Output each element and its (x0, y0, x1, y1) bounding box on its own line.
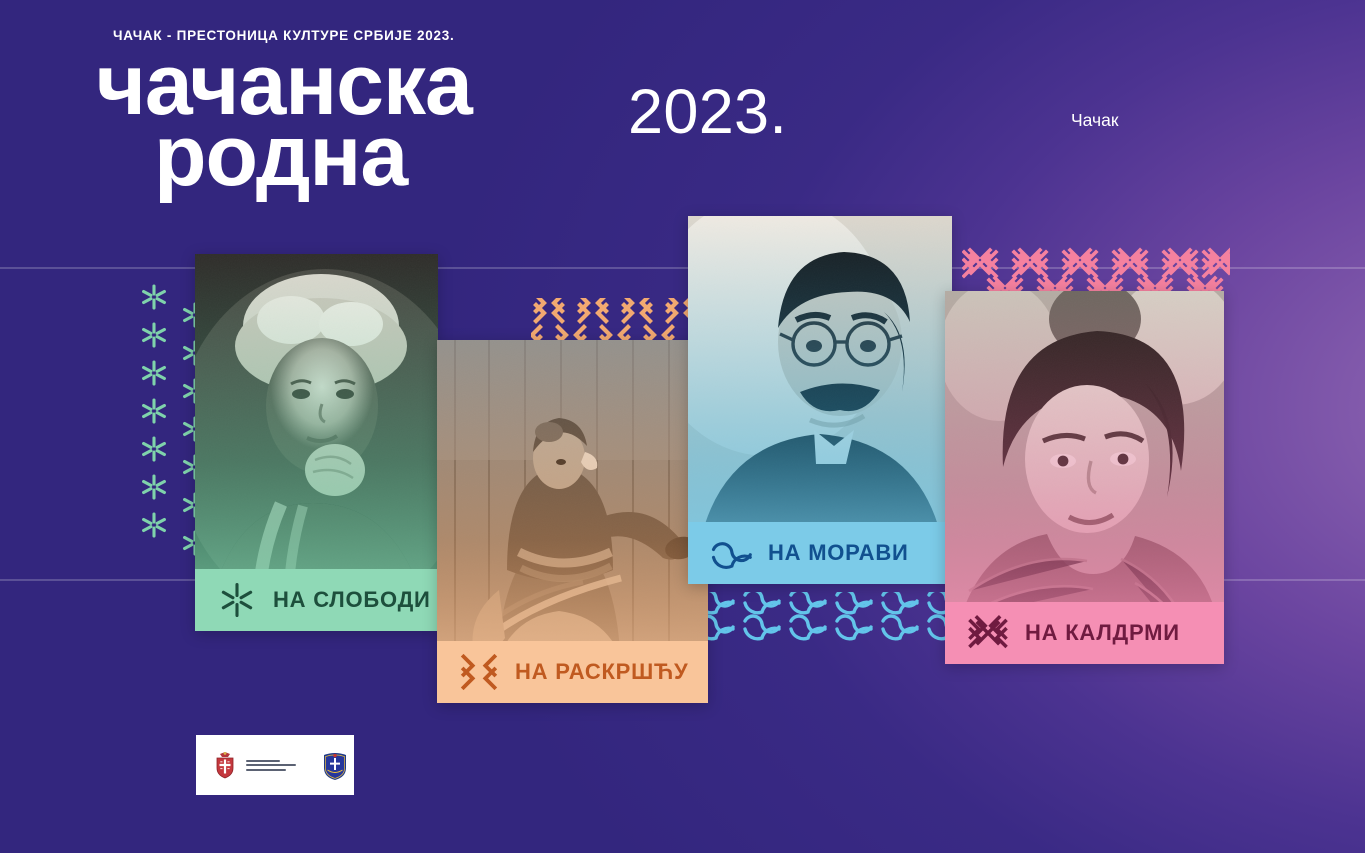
diamond-cross-icon (967, 612, 1009, 654)
card-label-text: НА КАЛДРМИ (1025, 620, 1180, 646)
poster-canvas: ЧАЧАК - ПРЕСТОНИЦА КУЛТУРЕ СРБИЈЕ 2023. … (0, 0, 1365, 853)
year-label: 2023. (628, 76, 787, 148)
sponsor-badge (196, 735, 354, 795)
card-label-na-raskrscu: НА РАСКРШЋУ (437, 641, 708, 703)
wordmark: чачанска родна (96, 50, 472, 191)
cacak-city-crest-icon (322, 750, 348, 780)
ornament-blue-waves (694, 592, 948, 642)
asterisk-star-icon (217, 580, 257, 620)
city-label: Чачак (1071, 110, 1119, 131)
crossroads-x-icon (459, 652, 499, 692)
ministry-text-lines (246, 760, 296, 771)
card-na-moravi[interactable]: НА МОРАВИ (688, 216, 952, 584)
card-na-kaldrmi[interactable]: НА КАЛДРМИ (945, 291, 1224, 664)
ministry-line-3 (246, 769, 286, 771)
card-label-na-slobodi: НА СЛОБОДИ (195, 569, 438, 631)
card-na-raskrscu[interactable]: НА РАСКРШЋУ (437, 340, 708, 703)
ministry-line-2 (246, 764, 296, 766)
wave-icon (710, 534, 752, 572)
ministry-line-1 (246, 760, 280, 762)
card-label-text: НА МОРАВИ (768, 540, 909, 566)
card-label-na-kaldrmi: НА КАЛДРМИ (945, 602, 1224, 664)
card-na-slobodi[interactable]: НА СЛОБОДИ (195, 254, 438, 631)
serbia-coat-of-arms-icon (214, 751, 236, 779)
card-label-text: НА РАСКРШЋУ (515, 659, 688, 685)
card-label-text: НА СЛОБОДИ (273, 587, 431, 613)
card-label-na-moravi: НА МОРАВИ (688, 522, 952, 584)
